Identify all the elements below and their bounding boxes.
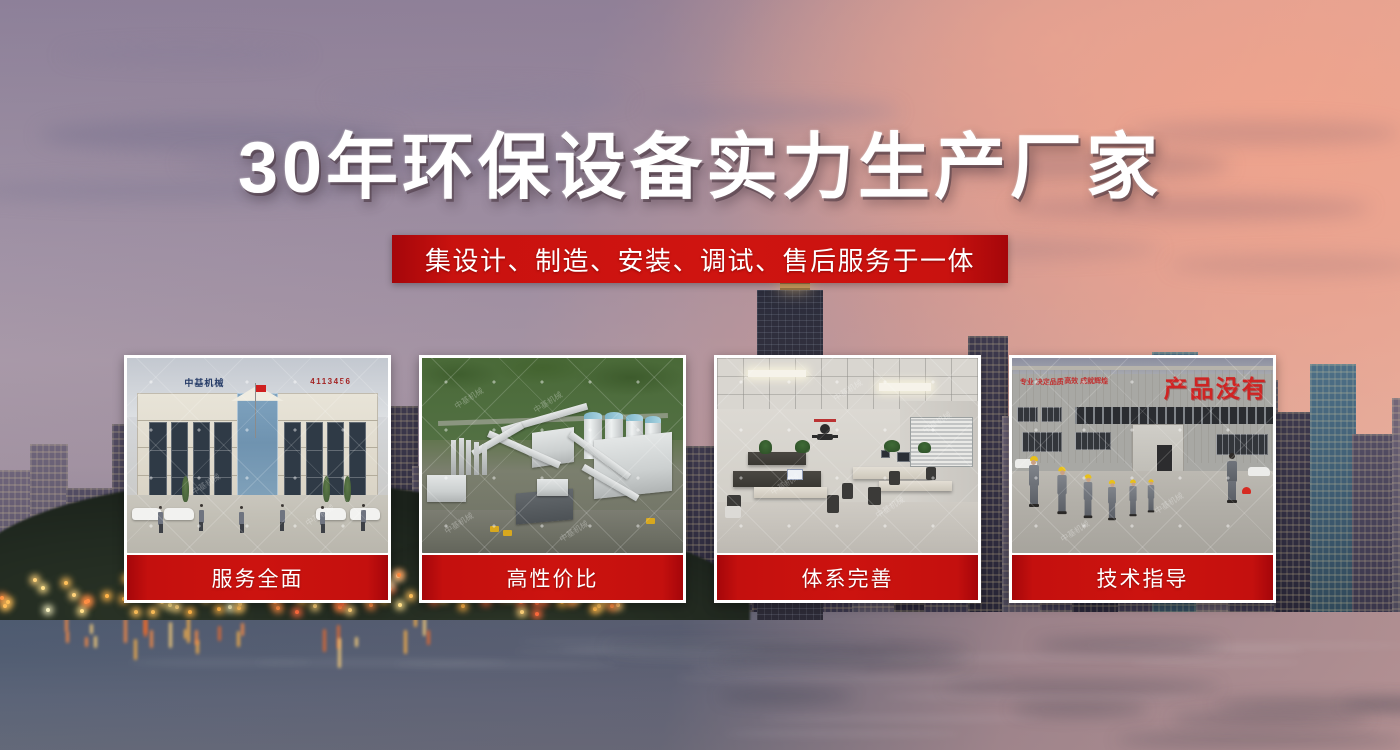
cloud: [640, 100, 900, 122]
light-reflection: [195, 630, 198, 645]
card-label-bar: 体系完善: [717, 553, 978, 600]
shore-light: [348, 608, 352, 612]
staff-figure: [280, 504, 285, 530]
light-reflection: [150, 630, 153, 648]
water-streak: [675, 676, 1018, 681]
water-shadow: [719, 690, 854, 702]
cloud: [330, 86, 630, 110]
shore-light: [610, 604, 614, 608]
subtitle-banner: 集设计、制造、安装、调试、售后服务于一体: [392, 235, 1008, 283]
feature-card-row: 中基机械 4113456 中基机械 中基机械 服务全面: [124, 355, 1276, 603]
card-label-text: 技术指导: [1097, 563, 1189, 593]
feature-card[interactable]: 产品没有 专业 决定品质 高效 成就辉煌: [1009, 355, 1276, 603]
shore-light: [80, 609, 84, 613]
shore-light: [46, 608, 50, 612]
shore-light: [151, 610, 155, 614]
shore-light: [616, 603, 620, 607]
workers-training-photo: 产品没有 专业 决定品质 高效 成就辉煌: [1012, 358, 1273, 553]
card-label-text: 服务全面: [212, 563, 304, 593]
aerial-production-plant-photo: 中基机械 中基机械 中基机械 中基机械: [422, 358, 683, 553]
shore-light: [6, 600, 10, 604]
water-streak: [724, 731, 960, 736]
water-shadow: [1115, 734, 1400, 746]
worker-figure: [1083, 474, 1093, 519]
skyline-building: [1310, 364, 1356, 620]
shore-light: [295, 610, 299, 614]
red-helmet-icon: [1242, 487, 1251, 494]
water-streak: [883, 694, 1201, 699]
water-shadow: [1035, 639, 1224, 651]
skyline-building: [1392, 398, 1400, 620]
shore-light: [105, 594, 109, 598]
feature-card[interactable]: 中基机械 中基机械 中基机械 中基机械 体系完善: [714, 355, 981, 603]
light-reflection: [90, 624, 93, 634]
factory-wall-slogan-large: 产品没有: [1164, 369, 1268, 404]
light-reflection: [94, 636, 97, 648]
worker-figure: [1129, 480, 1138, 517]
staff-figure: [239, 506, 244, 532]
shore-light: [313, 604, 317, 608]
shore-light: [41, 586, 45, 590]
card-label-text: 体系完善: [802, 563, 894, 593]
card-label-bar: 服务全面: [127, 553, 388, 600]
light-reflection: [323, 629, 326, 652]
light-reflection: [124, 618, 127, 642]
card-label-bar: 技术指导: [1012, 553, 1273, 600]
shore-light: [64, 581, 68, 585]
light-reflection: [184, 629, 187, 638]
water-streak: [759, 716, 1046, 721]
staff-figure: [320, 506, 325, 532]
light-reflection: [241, 623, 244, 637]
cloud: [60, 46, 310, 64]
worker-figure: [1147, 480, 1155, 514]
worker-figure: [1107, 480, 1116, 521]
light-reflection: [427, 630, 430, 646]
staff-figure: [361, 504, 366, 530]
shore-light: [72, 593, 76, 597]
office-interior-photo: 中基机械 中基机械 中基机械 中基机械: [717, 358, 978, 553]
building-phone-text: 4113456: [310, 377, 351, 386]
shore-light: [217, 607, 221, 611]
shore-light: [175, 605, 179, 609]
water-streak: [1129, 660, 1305, 665]
page-title: 30年环保设备实力生产厂家: [0, 132, 1400, 204]
light-reflection: [187, 616, 190, 642]
staff-figure: [158, 506, 163, 532]
feature-card[interactable]: 中基机械 中基机械 中基机械 中基机械 高性价比: [419, 355, 686, 603]
water-shadow: [605, 641, 970, 653]
shore-light: [369, 603, 373, 607]
light-reflection: [404, 630, 407, 654]
shore-light: [0, 596, 4, 600]
staff-figure: [199, 504, 204, 530]
worker-figure: [1028, 456, 1040, 508]
shore-light: [134, 610, 138, 614]
card-label-bar: 高性价比: [422, 553, 683, 600]
shore-light: [237, 606, 241, 610]
light-reflection: [144, 619, 147, 634]
factory-wall-slogan-small: 专业 决定品质: [1020, 379, 1064, 388]
water-shadow: [944, 681, 1222, 693]
shore-light: [597, 604, 601, 608]
shore-light: [33, 578, 37, 582]
banner-stage: 30年环保设备实力生产厂家 集设计、制造、安装、调试、售后服务于一体: [0, 0, 1400, 750]
shore-light: [86, 599, 90, 603]
light-reflection: [85, 637, 88, 647]
light-reflection: [237, 631, 240, 647]
light-reflection: [423, 618, 426, 636]
shore-light: [520, 610, 524, 614]
company-headquarters-photo: 中基机械 4113456 中基机械 中基机械: [127, 358, 388, 553]
feature-card[interactable]: 中基机械 4113456 中基机械 中基机械 服务全面: [124, 355, 391, 603]
light-reflection: [66, 631, 69, 643]
shore-light: [398, 603, 402, 607]
worker-figure: [1057, 467, 1068, 515]
shore-light: [168, 603, 172, 607]
shore-light: [188, 610, 192, 614]
light-reflection: [218, 626, 221, 641]
factory-wall-slogan-small: 高效 成就辉煌: [1064, 378, 1108, 387]
shore-light: [228, 605, 232, 609]
water-shadow: [1011, 703, 1148, 715]
water-streak: [1188, 648, 1305, 653]
wall-decal-icon: [808, 418, 842, 444]
river-water: [0, 612, 1400, 750]
shore-light: [3, 604, 7, 608]
light-reflection: [338, 638, 341, 668]
light-reflection: [169, 622, 172, 648]
subtitle-text: 集设计、制造、安装、调试、售后服务于一体: [425, 241, 975, 278]
shore-light: [535, 612, 539, 616]
water-shadow: [1171, 713, 1370, 725]
shore-light: [461, 604, 465, 608]
card-label-text: 高性价比: [507, 563, 599, 593]
building-sign-text: 中基机械: [184, 376, 224, 389]
light-reflection: [355, 637, 358, 647]
shore-light: [276, 606, 280, 610]
light-reflection: [134, 639, 137, 660]
